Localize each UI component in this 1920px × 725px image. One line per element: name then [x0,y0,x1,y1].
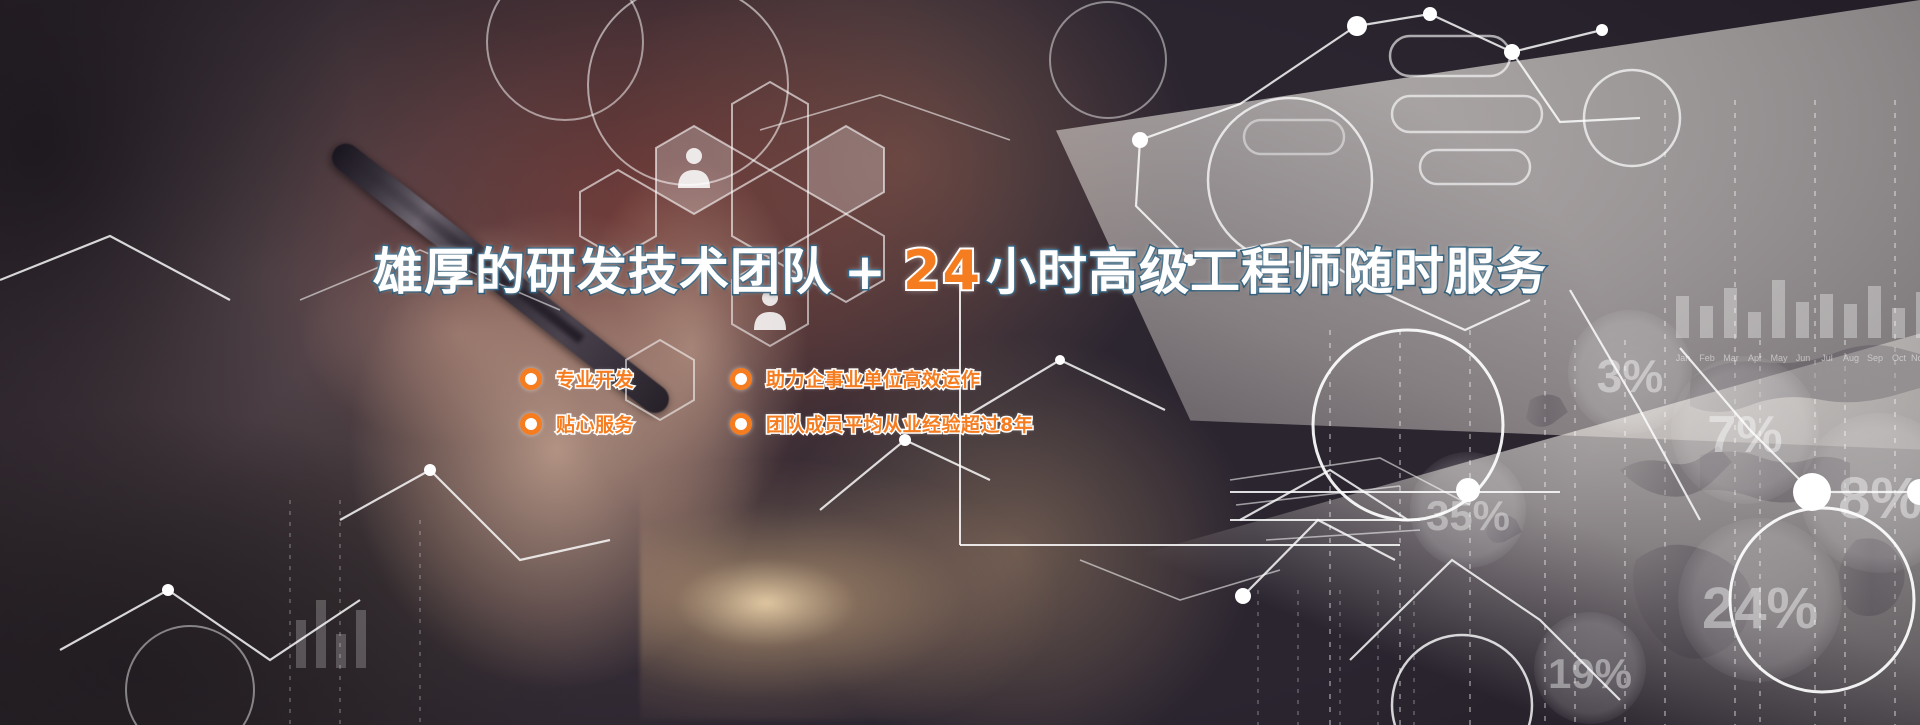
headline-plus-sign: + [832,247,899,297]
headline: 雄厚的研发技术团队+24小时高级工程师随时服务 [0,244,1920,298]
feature-item-pro-dev: 专业开发 [520,365,730,392]
ring-dot-icon [730,413,752,435]
feature-item-caring-service: 贴心服务 [520,410,730,437]
feature-label: 贴心服务 [556,410,634,437]
hero-banner: Jan Feb Mar Apr May Jun Jul Aug Sep Oct … [0,0,1920,725]
feature-row-2: 贴心服务 团队成员平均从业经验超过8年 [520,401,1140,446]
feature-item-experience: 团队成员平均从业经验超过8年 [730,410,1033,437]
feature-list: 专业开发 助力企事业单位高效运作 贴心服务 团队成员平均从业经验超过8年 [520,356,1140,446]
ring-dot-icon [730,368,752,390]
feature-label: 助力企事业单位高效运作 [766,365,981,392]
headline-part-2: 小时高级工程师随时服务 [986,247,1547,297]
headline-part-1: 雄厚的研发技术团队 [373,247,832,297]
feature-row-1: 专业开发 助力企事业单位高效运作 [520,356,1140,401]
feature-label: 专业开发 [556,365,634,392]
banner-content: 雄厚的研发技术团队+24小时高级工程师随时服务 专业开发 助力企事业单位高效运作… [0,0,1920,725]
ring-dot-icon [520,413,542,435]
feature-item-efficiency: 助力企事业单位高效运作 [730,365,981,392]
ring-dot-icon [520,368,542,390]
feature-label: 团队成员平均从业经验超过8年 [766,410,1033,437]
headline-number-24: 24 [899,244,986,298]
